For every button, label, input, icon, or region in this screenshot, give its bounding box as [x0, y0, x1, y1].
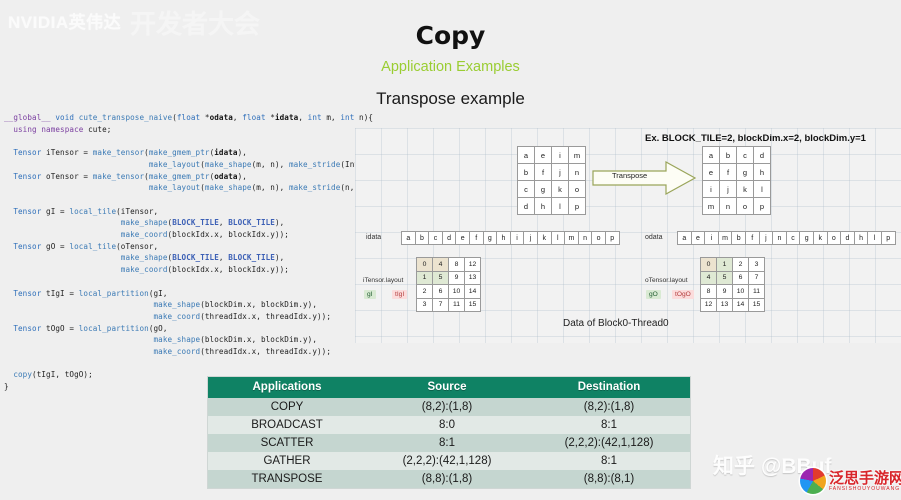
site-logo-icon	[800, 468, 826, 494]
grid-row: 891011	[701, 285, 765, 299]
array-cell: n	[578, 231, 593, 245]
array-cell: c	[428, 231, 443, 245]
itensor-layout-label: iTensor.layout	[363, 277, 403, 284]
grid-cell: 5	[717, 271, 733, 285]
table-cell: BROADCAST	[208, 416, 366, 434]
grid-cell: g	[535, 181, 552, 198]
grid-cell: o	[737, 198, 754, 215]
grid-cell: i	[703, 181, 720, 198]
grid-cell: 13	[465, 271, 481, 285]
grid-cell: 6	[733, 271, 749, 285]
grid-cell: h	[535, 198, 552, 215]
page-title: Copy	[0, 22, 901, 50]
array-cell: p	[881, 231, 896, 245]
table-cell: GATHER	[208, 452, 366, 470]
grid-cell: 2	[417, 285, 433, 299]
itensor-layout-table: 0481215913261014371115	[416, 257, 481, 312]
grid-cell: b	[720, 147, 737, 164]
grid-cell: k	[552, 181, 569, 198]
grid-cell: 12	[701, 298, 717, 312]
otensor-layout-table: 0123456789101112131415	[700, 257, 765, 312]
grid-cell: 10	[733, 285, 749, 299]
table-cell: (8,2):(1,8)	[366, 398, 528, 416]
grid-cell: b	[518, 164, 535, 181]
grid-cell: j	[720, 181, 737, 198]
grid-cell: j	[552, 164, 569, 181]
array-cell: f	[469, 231, 484, 245]
grid-cell: 8	[701, 285, 717, 299]
grid-row: 261014	[417, 285, 481, 299]
grid-cell: 3	[749, 258, 765, 272]
grid-row: abcd	[703, 147, 771, 164]
column-header: Applications	[208, 377, 366, 398]
grid-cell: 9	[717, 285, 733, 299]
grid-cell: d	[518, 198, 535, 215]
table-cell: 8:1	[366, 434, 528, 452]
section-title: Transpose example	[0, 89, 901, 109]
grid-row: 4567	[701, 271, 765, 285]
array-cell: e	[691, 231, 706, 245]
grid-cell: f	[535, 164, 552, 181]
array-cell: g	[799, 231, 814, 245]
array-cell: i	[704, 231, 719, 245]
grid-cell: 14	[733, 298, 749, 312]
array-cell: e	[455, 231, 470, 245]
grid-cell: k	[737, 181, 754, 198]
grid-cell: n	[720, 198, 737, 215]
array-cell: c	[786, 231, 801, 245]
column-header: Destination	[528, 377, 690, 398]
array-cell: k	[537, 231, 552, 245]
grid-cell: 6	[433, 285, 449, 299]
grid-cell: l	[754, 181, 771, 198]
idata-array: abcdefghijklmnop	[401, 231, 620, 245]
array-cell: j	[759, 231, 774, 245]
chip-togo: tOgO	[672, 290, 694, 299]
grid-cell: a	[703, 147, 720, 164]
grid-cell: n	[569, 164, 586, 181]
grid-row: 371115	[417, 298, 481, 312]
grid-cell: g	[737, 164, 754, 181]
input-matrix: aeimbfjncgkodhlp	[517, 146, 586, 215]
odata-array: aeimbfjncgkodhlp	[677, 231, 896, 245]
transpose-arrow-label: Transpose	[612, 171, 647, 180]
array-cell: h	[496, 231, 511, 245]
grid-cell: d	[754, 147, 771, 164]
array-cell: j	[523, 231, 538, 245]
otensor-layout-label: oTensor.layout	[645, 277, 688, 284]
grid-cell: 13	[717, 298, 733, 312]
table-cell: 8:1	[528, 416, 690, 434]
array-cell: k	[813, 231, 828, 245]
array-cell: i	[510, 231, 525, 245]
table-cell: (2,2,2):(42,1,128)	[366, 452, 528, 470]
grid-cell: 8	[449, 258, 465, 272]
table-body: COPY(8,2):(1,8)(8,2):(1,8)BROADCAST8:08:…	[208, 398, 690, 488]
grid-row: ijkl	[703, 181, 771, 198]
array-cell: f	[745, 231, 760, 245]
applications-table: ApplicationsSourceDestination COPY(8,2):…	[208, 377, 690, 488]
array-cell: a	[677, 231, 692, 245]
table-row: GATHER(2,2,2):(42,1,128)8:1	[208, 452, 690, 470]
array-cell: a	[401, 231, 416, 245]
grid-cell: c	[737, 147, 754, 164]
grid-cell: h	[754, 164, 771, 181]
grid-cell: m	[703, 198, 720, 215]
grid-row: 15913	[417, 271, 481, 285]
grid-cell: m	[569, 147, 586, 164]
grid-row: bfjn	[518, 164, 586, 181]
grid-cell: a	[518, 147, 535, 164]
title-block: Copy Application Examples Transpose exam…	[0, 22, 901, 109]
table-cell: (8,2):(1,8)	[528, 398, 690, 416]
grid-row: aeim	[518, 147, 586, 164]
grid-cell: 10	[449, 285, 465, 299]
grid-cell: 2	[733, 258, 749, 272]
grid-cell: 11	[449, 298, 465, 312]
data-caption: Data of Block0-Thread0	[563, 318, 669, 329]
array-cell: l	[551, 231, 566, 245]
grid-cell: 12	[465, 258, 481, 272]
array-cell: m	[718, 231, 733, 245]
table-row: TRANSPOSE(8,8):(1,8)(8,8):(8,1)	[208, 470, 690, 488]
table-cell: TRANSPOSE	[208, 470, 366, 488]
grid-row: cgko	[518, 181, 586, 198]
array-cell: m	[564, 231, 579, 245]
array-cell: o	[591, 231, 606, 245]
grid-cell: f	[720, 164, 737, 181]
table-header-row: ApplicationsSourceDestination	[208, 377, 690, 398]
grid-cell: 5	[433, 271, 449, 285]
grid-cell: 15	[465, 298, 481, 312]
site-pinyin: FANSISHOUYOUWANG	[829, 487, 901, 492]
array-cell: b	[415, 231, 430, 245]
grid-cell: l	[552, 198, 569, 215]
array-cell: b	[731, 231, 746, 245]
grid-row: dhlp	[518, 198, 586, 215]
table-cell: 8:0	[366, 416, 528, 434]
odata-label: odata	[645, 234, 663, 241]
grid-cell: 1	[717, 258, 733, 272]
grid-cell: i	[552, 147, 569, 164]
grid-cell: p	[754, 198, 771, 215]
grid-row: mnop	[703, 198, 771, 215]
table-row: SCATTER8:1(2,2,2):(42,1,128)	[208, 434, 690, 452]
table-cell: COPY	[208, 398, 366, 416]
grid-cell: p	[569, 198, 586, 215]
array-cell: l	[867, 231, 882, 245]
grid-cell: e	[535, 147, 552, 164]
site-name: 泛思手游网	[829, 471, 901, 486]
grid-cell: e	[703, 164, 720, 181]
table-cell: 8:1	[528, 452, 690, 470]
grid-cell: 3	[417, 298, 433, 312]
array-cell: g	[483, 231, 498, 245]
chip-tigi: tIgI	[392, 290, 407, 299]
table-row: BROADCAST8:08:1	[208, 416, 690, 434]
idata-label: idata	[366, 234, 381, 241]
grid-cell: 4	[701, 271, 717, 285]
grid-row: efgh	[703, 164, 771, 181]
grid-row: 04812	[417, 258, 481, 272]
array-cell: h	[854, 231, 869, 245]
output-matrix: abcdefghijklmnop	[702, 146, 771, 215]
grid-cell: o	[569, 181, 586, 198]
grid-cell: 14	[465, 285, 481, 299]
column-header: Source	[366, 377, 528, 398]
grid-cell: c	[518, 181, 535, 198]
chip-go: gO	[646, 290, 661, 299]
table-cell: (2,2,2):(42,1,128)	[528, 434, 690, 452]
table-cell: SCATTER	[208, 434, 366, 452]
grid-cell: 4	[433, 258, 449, 272]
chip-gi: gI	[364, 290, 376, 299]
grid-cell: 1	[417, 271, 433, 285]
grid-cell: 7	[433, 298, 449, 312]
page-subtitle: Application Examples	[0, 59, 901, 75]
array-cell: d	[840, 231, 855, 245]
grid-row: 12131415	[701, 298, 765, 312]
grid-cell: 0	[701, 258, 717, 272]
table-row: COPY(8,2):(1,8)(8,2):(1,8)	[208, 398, 690, 416]
grid-cell: 7	[749, 271, 765, 285]
array-cell: p	[605, 231, 620, 245]
grid-cell: 0	[417, 258, 433, 272]
grid-cell: 11	[749, 285, 765, 299]
grid-cell: 15	[749, 298, 765, 312]
array-cell: o	[827, 231, 842, 245]
array-cell: n	[772, 231, 787, 245]
code-block: __global__ void cute_transpose_naive(flo…	[4, 112, 415, 393]
table-cell: (8,8):(8,1)	[528, 470, 690, 488]
site-watermark: 泛思手游网 FANSISHOUYOUWANG	[800, 468, 901, 494]
grid-row: 0123	[701, 258, 765, 272]
table-cell: (8,8):(1,8)	[366, 470, 528, 488]
example-note: Ex. BLOCK_TILE=2, blockDim.x=2, blockDim…	[645, 133, 866, 144]
grid-cell: 9	[449, 271, 465, 285]
array-cell: d	[442, 231, 457, 245]
